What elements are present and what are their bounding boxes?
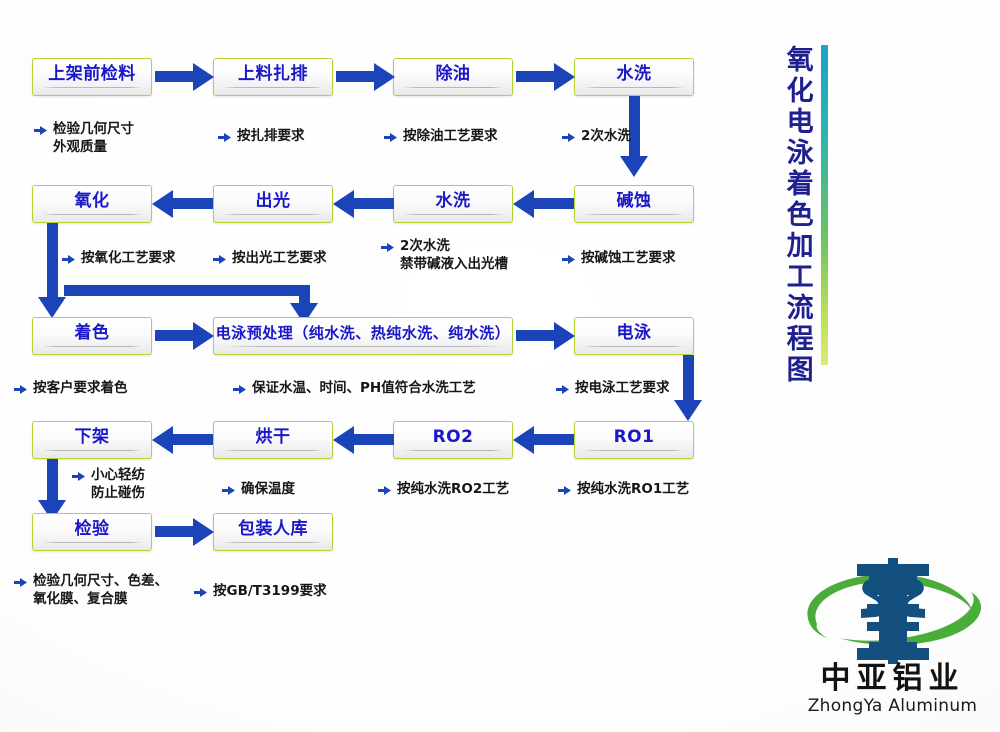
process-label: 氧化 (75, 193, 110, 210)
note-text: 2次水洗 (581, 128, 631, 146)
note-step-3: 按除油工艺要求 (384, 128, 498, 146)
connector-step2-step3 (336, 71, 376, 82)
note-text: 按氧化工艺要求 (81, 250, 176, 268)
title-accent-bar (821, 45, 828, 365)
arrowhead-right (374, 63, 395, 91)
note-text: 按出光工艺要求 (232, 250, 327, 268)
logo-name-en: ZhongYa Aluminum (795, 698, 990, 715)
note-step-2: 按扎排要求 (218, 128, 305, 146)
arrowhead-left (513, 190, 534, 218)
process-label: 除油 (436, 66, 471, 83)
company-logo: 中亚铝业 ZhongYa Aluminum (795, 552, 990, 722)
process-box-step-10[interactable]: 电泳预处理（纯水洗、热纯水洗、纯水洗） (213, 317, 513, 355)
note-step-10: 保证水温、时间、PH值符合水洗工艺 (233, 380, 476, 398)
connector-step16-step17 (155, 526, 195, 537)
note-step-7: 按出光工艺要求 (213, 250, 327, 268)
note-text: 按客户要求着色 (33, 380, 128, 398)
connector-step13-step14 (354, 434, 394, 445)
arrow-bullet-icon (562, 253, 575, 264)
connector-step8-step9 (47, 223, 58, 299)
note-text: 检验几何尺寸 外观质量 (53, 121, 134, 157)
connector-step11-step12 (683, 355, 694, 402)
zhongya-emblem-icon (795, 552, 990, 670)
note-text: 按纯水洗RO2工艺 (397, 481, 509, 499)
arrow-bullet-icon (14, 576, 27, 587)
connector-step8-step10 (64, 285, 310, 296)
note-text: 按扎排要求 (237, 128, 305, 146)
arrowhead-left (513, 426, 534, 454)
process-label: 检验 (75, 521, 110, 538)
process-box-step-15[interactable]: 下架 (32, 421, 152, 459)
process-box-step-6[interactable]: 水洗 (393, 185, 513, 223)
process-label: 上架前检料 (48, 66, 136, 83)
arrow-bullet-icon (384, 131, 397, 142)
process-label: 电泳预处理（纯水洗、热纯水洗、纯水洗） (216, 326, 511, 341)
process-label: 下架 (75, 429, 110, 446)
process-label: 水洗 (436, 193, 471, 210)
process-label: 烘干 (256, 429, 291, 446)
process-box-step-8[interactable]: 氧化 (32, 185, 152, 223)
arrowhead-down (38, 297, 66, 318)
arrow-bullet-icon (562, 131, 575, 142)
note-step-16: 检验几何尺寸、色差、 氧化膜、复合膜 (14, 573, 168, 609)
process-box-step-7[interactable]: 出光 (213, 185, 333, 223)
arrowhead-left (152, 426, 173, 454)
connector-step14-step15 (173, 434, 213, 445)
process-box-step-17[interactable]: 包装人库 (213, 513, 333, 551)
note-text: 保证水温、时间、PH值符合水洗工艺 (252, 380, 476, 398)
arrowhead-left (152, 190, 173, 218)
note-text: 检验几何尺寸、色差、 氧化膜、复合膜 (33, 573, 168, 609)
arrow-bullet-icon (34, 124, 47, 135)
process-box-step-13[interactable]: RO2 (393, 421, 513, 459)
arrow-bullet-icon (72, 470, 85, 481)
arrow-bullet-icon (556, 383, 569, 394)
arrow-bullet-icon (222, 484, 235, 495)
connector-step10-step11 (516, 330, 556, 341)
logo-name-cn: 中亚铝业 (795, 664, 990, 694)
connector-step9-step10 (155, 330, 195, 341)
note-text: 按电泳工艺要求 (575, 380, 670, 398)
arrow-bullet-icon (233, 383, 246, 394)
note-step-5: 按碱蚀工艺要求 (562, 250, 676, 268)
note-step-6: 2次水洗 禁带碱液入出光槽 (381, 238, 508, 274)
note-text: 2次水洗 禁带碱液入出光槽 (400, 238, 508, 274)
note-text: 小心轻纺 防止碰伤 (91, 467, 145, 503)
process-box-step-9[interactable]: 着色 (32, 317, 152, 355)
process-box-step-5[interactable]: 碱蚀 (574, 185, 694, 223)
process-label: 着色 (75, 325, 110, 342)
arrowhead-right (193, 518, 214, 546)
arrow-bullet-icon (218, 131, 231, 142)
arrowhead-down (620, 156, 648, 177)
arrow-bullet-icon (14, 383, 27, 394)
process-label: 电泳 (617, 325, 652, 342)
arrowhead-down (674, 400, 702, 421)
arrowhead-left (333, 426, 354, 454)
process-label: RO2 (433, 429, 474, 446)
note-step-15: 小心轻纺 防止碰伤 (72, 467, 145, 503)
note-text: 按碱蚀工艺要求 (581, 250, 676, 268)
process-box-step-14[interactable]: 烘干 (213, 421, 333, 459)
flowchart-canvas: 上架前检料 上料扎排 除油 水洗 检验几何尺寸 外观质量 按扎排要求 按除油工艺… (0, 0, 1000, 732)
connector-step3-step4 (516, 71, 556, 82)
process-label: 包装人库 (238, 521, 308, 538)
connector-step6-step7 (354, 198, 394, 209)
page-title: 氧化电泳着色加工流程图 (782, 45, 811, 386)
process-label: 出光 (256, 193, 291, 210)
note-step-8: 按氧化工艺要求 (62, 250, 176, 268)
connector-step5-step6 (534, 198, 574, 209)
process-box-step-3[interactable]: 除油 (393, 58, 513, 96)
arrow-bullet-icon (213, 253, 226, 264)
chart-title-group: 氧化电泳着色加工流程图 (782, 45, 828, 386)
note-step-9: 按客户要求着色 (14, 380, 128, 398)
arrow-bullet-icon (194, 586, 207, 597)
arrow-bullet-icon (381, 241, 394, 252)
connector-step1-step2 (155, 71, 195, 82)
process-box-step-12[interactable]: RO1 (574, 421, 694, 459)
note-text: 确保温度 (241, 481, 295, 499)
note-step-14: 确保温度 (222, 481, 295, 499)
note-text: 按纯水洗RO1工艺 (577, 481, 689, 499)
note-text: 按除油工艺要求 (403, 128, 498, 146)
note-step-11: 按电泳工艺要求 (556, 380, 670, 398)
process-label: 上料扎排 (238, 66, 308, 83)
note-step-4: 2次水洗 (562, 128, 631, 146)
connector-step4-step5 (629, 96, 640, 158)
process-box-step-11[interactable]: 电泳 (574, 317, 694, 355)
connector-step15-step16 (47, 459, 58, 503)
connector-step7-step8 (173, 198, 213, 209)
note-step-12: 按纯水洗RO1工艺 (558, 481, 689, 499)
arrowhead-right (554, 63, 575, 91)
connector-step12-step13 (534, 434, 574, 445)
note-step-13: 按纯水洗RO2工艺 (378, 481, 509, 499)
arrowhead-right (193, 322, 214, 350)
process-box-step-4[interactable]: 水洗 (574, 58, 694, 96)
arrowhead-left (333, 190, 354, 218)
arrow-bullet-icon (62, 253, 75, 264)
note-step-17: 按GB/T3199要求 (194, 583, 327, 601)
arrow-bullet-icon (378, 484, 391, 495)
process-label: 水洗 (617, 66, 652, 83)
process-box-step-1[interactable]: 上架前检料 (32, 58, 152, 96)
note-text: 按GB/T3199要求 (213, 583, 327, 601)
arrowhead-right (554, 322, 575, 350)
process-label: RO1 (614, 429, 655, 446)
process-box-step-2[interactable]: 上料扎排 (213, 58, 333, 96)
arrowhead-right (193, 63, 214, 91)
process-box-step-16[interactable]: 检验 (32, 513, 152, 551)
arrow-bullet-icon (558, 484, 571, 495)
note-step-1: 检验几何尺寸 外观质量 (34, 121, 134, 157)
process-label: 碱蚀 (617, 193, 652, 210)
